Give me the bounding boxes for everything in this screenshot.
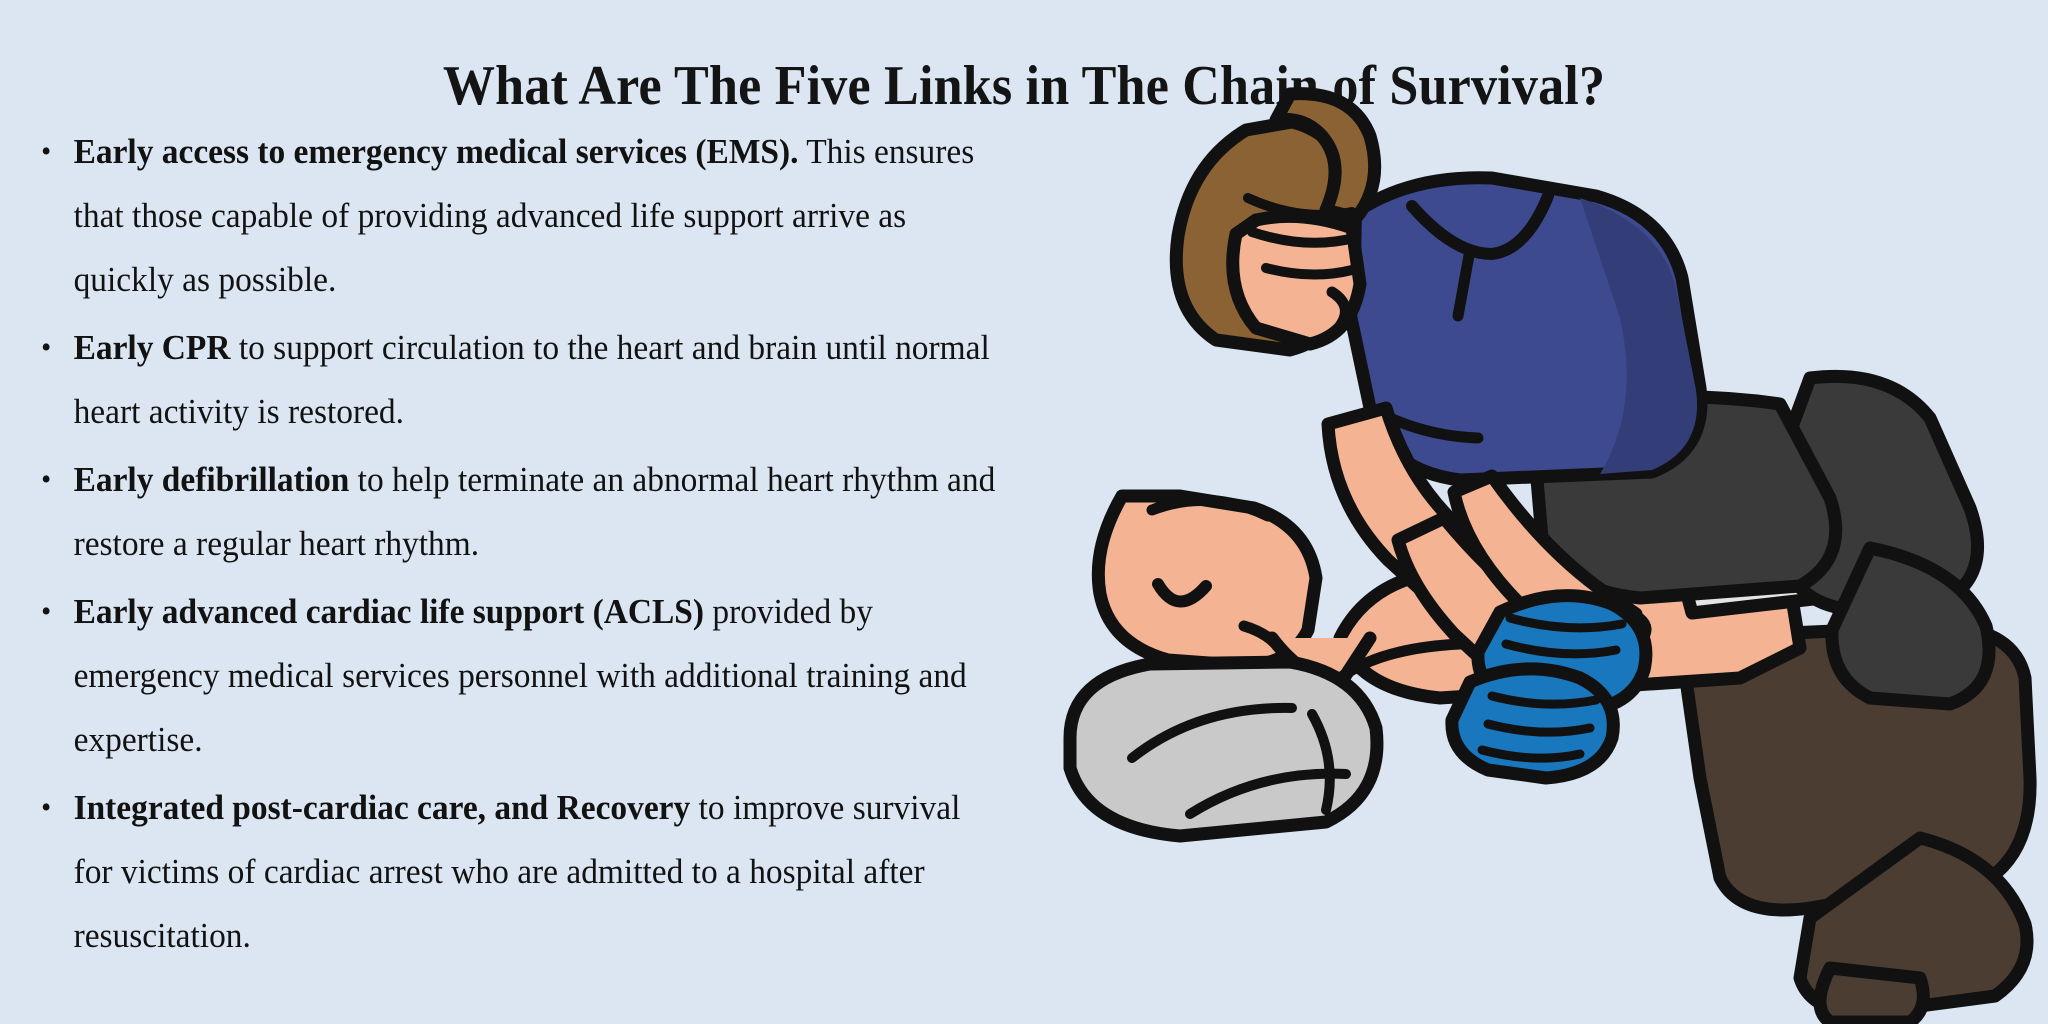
list-item-lead: Early defibrillation <box>74 460 350 499</box>
list-item: •Early CPR to support circulation to the… <box>22 316 1006 444</box>
bullet-icon: • <box>41 580 54 644</box>
victim-foot <box>1820 968 1923 1022</box>
bullet-icon: • <box>41 120 54 184</box>
list-item: •Integrated post-cardiac care, and Recov… <box>22 776 1006 968</box>
list-item-lead: Early access to emergency medical servic… <box>74 132 799 171</box>
cpr-illustration <box>1040 78 2040 1024</box>
list-item: •Early advanced cardiac life support (AC… <box>22 580 1006 772</box>
list-item: •Early defibrillation to help terminate … <box>22 448 1006 576</box>
bullet-icon: • <box>41 448 54 512</box>
list-item: •Early access to emergency medical servi… <box>22 120 1006 312</box>
list-item-lead: Early CPR <box>74 328 231 367</box>
chain-of-survival-list: •Early access to emergency medical servi… <box>22 120 1052 972</box>
slide-canvas: What Are The Five Links in The Chain of … <box>0 0 2048 1024</box>
list-item-lead: Early advanced cardiac life support (ACL… <box>74 592 704 631</box>
bullet-icon: • <box>41 776 54 840</box>
bullet-icon: • <box>41 316 54 380</box>
list-item-lead: Integrated post-cardiac care, and Recove… <box>74 788 691 827</box>
